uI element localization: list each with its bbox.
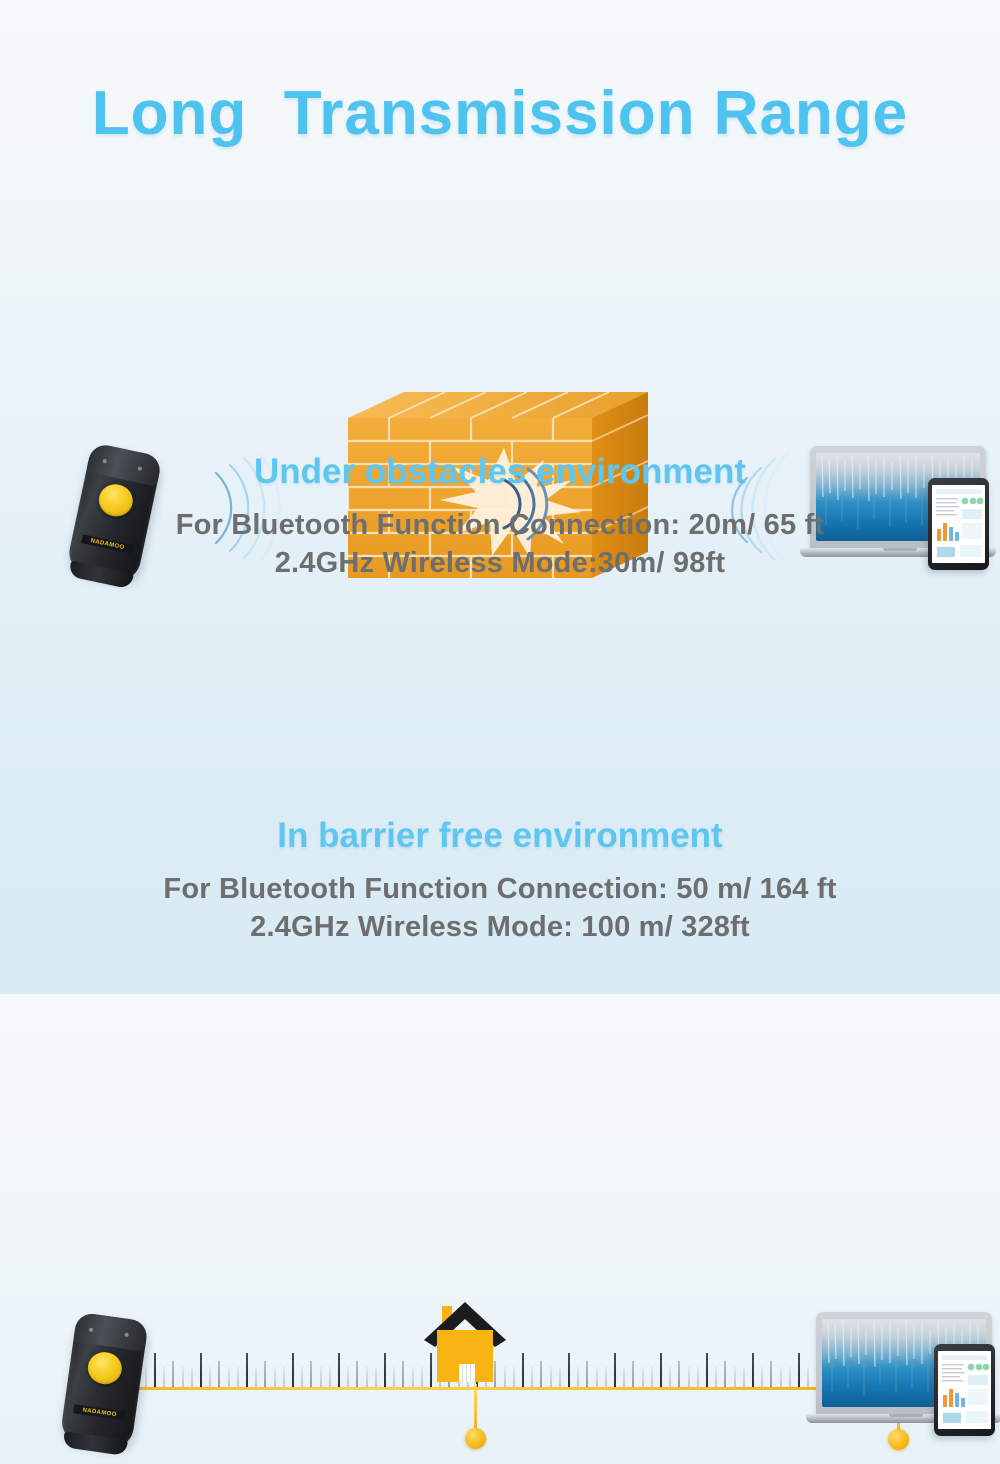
ruler-tick [706,1353,708,1387]
ruler-tick [301,1367,303,1387]
ruler-tick [724,1361,726,1387]
ruler-tick [651,1367,653,1387]
ruler-tick [642,1367,644,1387]
house-door [459,1364,475,1382]
spec-obstacles-bluetooth: For Bluetooth Function Connection: 20m/ … [0,509,1000,542]
section-obstacles-scene: NADAMOO [0,190,1000,410]
ruler-tick [770,1361,772,1387]
ruler-tick [310,1361,312,1387]
ruler-tick [402,1361,404,1387]
heading-under-obstacles: Under obstacles environment [0,452,1000,492]
ruler-tick [412,1367,414,1387]
ruler-tick [596,1367,598,1387]
ruler-tick [237,1367,239,1387]
ruler-tick [393,1367,395,1387]
ruler-tick [614,1353,616,1387]
scanner-brand-label: NADAMOO [73,1404,126,1420]
tablet-screen [938,1351,991,1429]
ruler-tick [209,1367,211,1387]
tablet-device [934,1344,995,1436]
ruler-tick [246,1353,248,1387]
ruler-tick [283,1367,285,1387]
ruler-tick [568,1353,570,1387]
ruler-tick [780,1367,782,1387]
pin-stem [474,1384,477,1432]
ruler-tick [375,1367,377,1387]
ruler-tick [798,1353,800,1387]
scanner-base [62,1431,128,1456]
ruler-tick [329,1367,331,1387]
ruler-tick [366,1367,368,1387]
ruler-tick [559,1367,561,1387]
ruler-tick [688,1367,690,1387]
ruler-tick [752,1353,754,1387]
barcode-scanner-bottom: NADAMOO [33,1302,201,1462]
ruler-tick [228,1367,230,1387]
ruler-tick [513,1367,515,1387]
ruler-tick [734,1367,736,1387]
ruler-tick [623,1367,625,1387]
ruler-tick [586,1361,588,1387]
ruler-tick [550,1367,552,1387]
ruler-tick [540,1361,542,1387]
ruler-tick [632,1361,634,1387]
ruler-tick [678,1361,680,1387]
ruler-tick [697,1367,699,1387]
ruler-tick [761,1367,763,1387]
ruler-tick [292,1353,294,1387]
scanner-head [73,1312,148,1352]
laptop-trackpad-notch [889,1414,923,1417]
page-title: Long Transmission Range [0,78,1000,149]
heading-barrier-free: In barrier free environment [0,816,1000,856]
spec-barrierfree-bluetooth: For Bluetooth Function Connection: 50 m/… [0,873,1000,906]
ruler-tick [522,1353,524,1387]
ruler-tick [200,1353,202,1387]
ruler-tick [218,1361,220,1387]
ruler-tick [356,1361,358,1387]
ruler-tick [320,1367,322,1387]
pin-dot [465,1428,486,1449]
ruler-tick [347,1367,349,1387]
spec-barrierfree-wireless: 2.4GHz Wireless Mode: 100 m/ 328ft [0,911,1000,944]
ruler-tick [660,1353,662,1387]
ruler-tick [789,1367,791,1387]
infographic-canvas: Long Transmission Range NADAMOO [0,0,1000,994]
scan-trigger-button[interactable] [86,1350,124,1386]
ruler-tick [715,1367,717,1387]
scanner-body: NADAMOO [60,1312,149,1449]
ruler-tick [531,1367,533,1387]
laptop-and-tablet-bottom [806,1308,1000,1443]
ruler-tick [274,1367,276,1387]
ruler-tick [577,1367,579,1387]
section-barrier-free-scene: NADAMOO [0,640,1000,820]
ruler-tick [743,1367,745,1387]
ruler-tick [669,1367,671,1387]
ruler-tick [255,1367,257,1387]
ruler-tick [384,1353,386,1387]
ruler-tick [264,1361,266,1387]
ruler-tick [338,1353,340,1387]
spec-obstacles-wireless: 2.4GHz Wireless Mode:30m/ 98ft [0,547,1000,580]
ruler-tick [605,1367,607,1387]
house-icon [420,1288,510,1388]
